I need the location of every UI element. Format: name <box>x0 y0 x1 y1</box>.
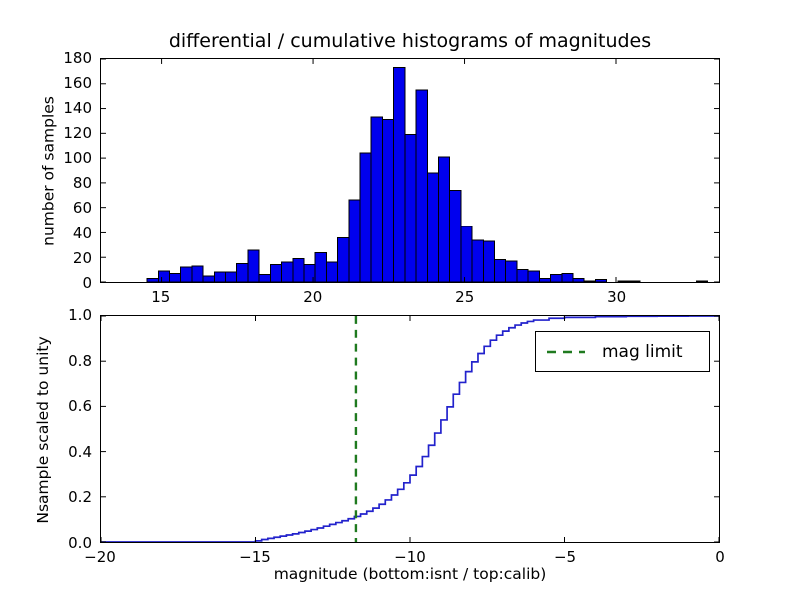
bottom-ytick-label: 0.4 <box>42 443 92 461</box>
top-xtick-label: 20 <box>303 288 322 306</box>
bottom-xtick-label: −15 <box>239 548 271 566</box>
top-xtick-label: 30 <box>607 288 626 306</box>
bottom-panel-xlabel: magnitude (bottom:isnt / top:calib) <box>100 565 720 583</box>
top-ytick-label: 60 <box>42 199 92 217</box>
differential-histogram-plot <box>101 59 719 282</box>
top-ytick-label: 180 <box>42 49 92 67</box>
cumulative-histogram-axes: mag limit <box>100 315 720 543</box>
legend: mag limit <box>535 331 710 372</box>
top-ytick-label: 80 <box>42 174 92 192</box>
bottom-ytick-label: 0.6 <box>42 397 92 415</box>
figure-canvas: differential / cumulative histograms of … <box>0 0 800 600</box>
bottom-xtick-label: −20 <box>84 548 116 566</box>
top-ytick-label: 160 <box>42 74 92 92</box>
bottom-xtick-label: −10 <box>394 548 426 566</box>
bottom-xtick-label: 0 <box>715 548 725 566</box>
top-ytick-label: 40 <box>42 224 92 242</box>
top-ytick-label: 140 <box>42 99 92 117</box>
figure-title: differential / cumulative histograms of … <box>100 30 720 52</box>
bottom-ytick-label: 1.0 <box>42 306 92 324</box>
mag-limit-line-icon <box>546 345 586 359</box>
top-xtick-label: 15 <box>151 288 170 306</box>
top-ytick-label: 0 <box>42 274 92 292</box>
top-ytick-label: 100 <box>42 149 92 167</box>
top-xtick-label: 25 <box>455 288 474 306</box>
bottom-ytick-label: 0.8 <box>42 352 92 370</box>
bottom-xtick-label: −5 <box>554 548 576 566</box>
bottom-ytick-label: 0.2 <box>42 488 92 506</box>
top-ytick-label: 120 <box>42 124 92 142</box>
bottom-panel-ylabel: Nsample scaled to unity <box>34 316 52 544</box>
top-ytick-label: 20 <box>42 249 92 267</box>
differential-histogram-axes <box>100 58 720 283</box>
legend-label-mag-limit: mag limit <box>602 342 683 362</box>
